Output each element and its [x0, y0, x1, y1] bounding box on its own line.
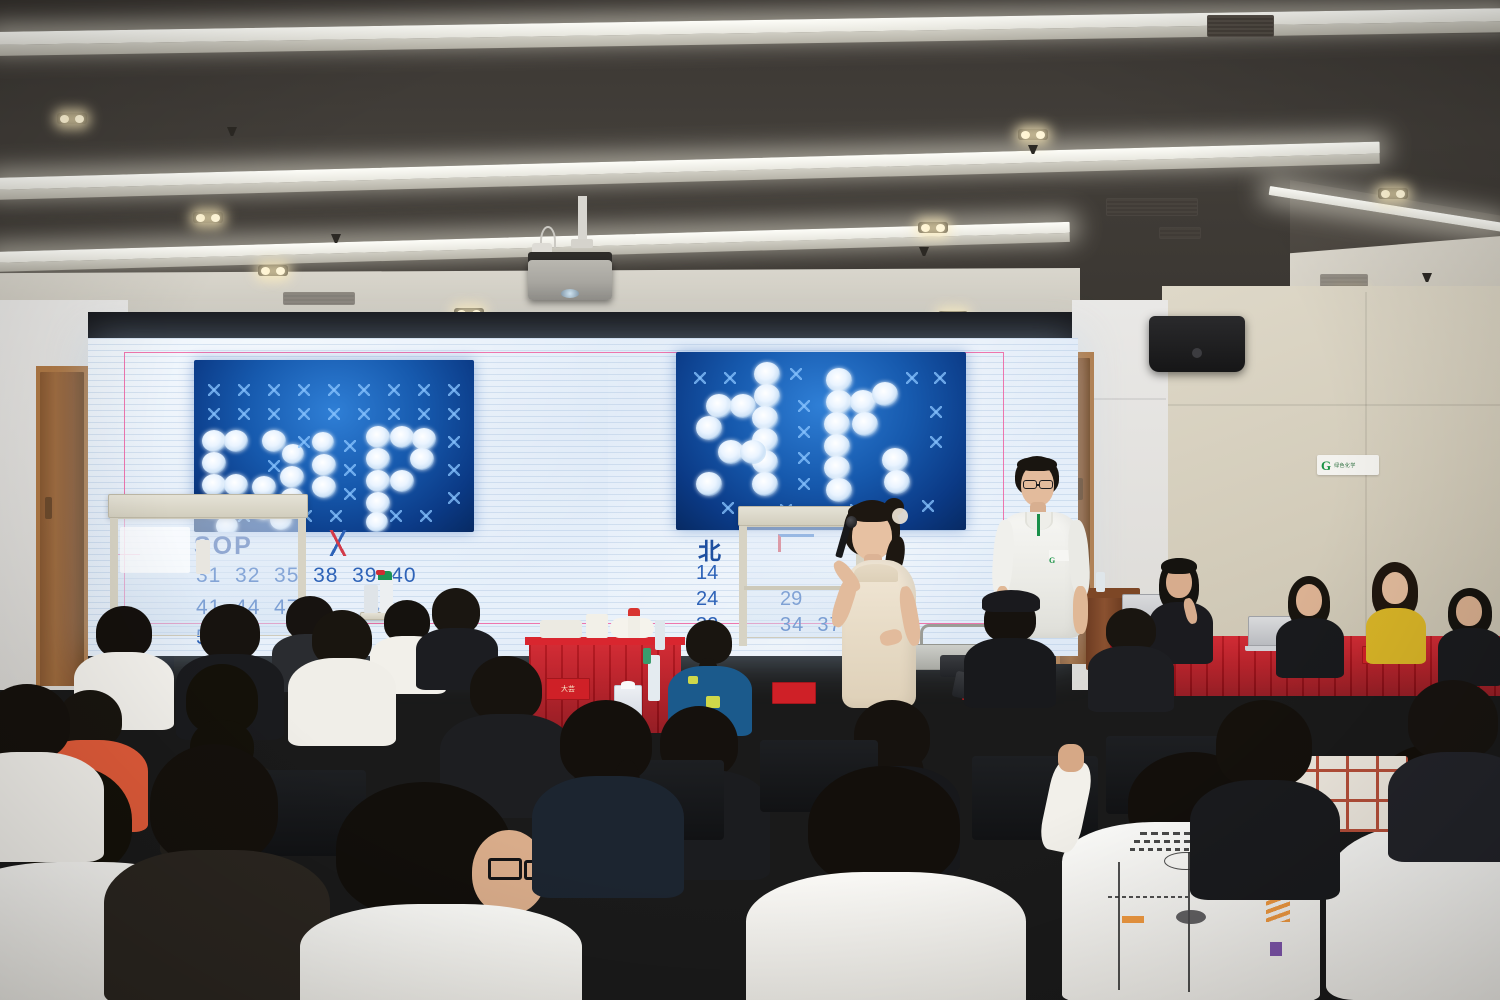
cap: [982, 590, 1040, 612]
wall-logo-sign: G 绿色化学: [1317, 455, 1379, 475]
wall-speaker: [1149, 316, 1245, 372]
projector-arm: [571, 239, 593, 248]
table-item-box: [586, 614, 608, 638]
glasses: [1023, 480, 1037, 489]
torso: [1190, 780, 1340, 900]
projector-mount: [578, 196, 587, 242]
cart-shelf-item: [120, 527, 190, 573]
shirt-print-orange-mark: [1122, 916, 1144, 923]
air-vent: [1106, 198, 1198, 216]
hair-front: [1161, 558, 1197, 574]
recessed-downlight: [1018, 129, 1048, 140]
air-vent: [1159, 227, 1201, 239]
torso: [300, 904, 582, 1000]
recessed-downlight: [918, 222, 948, 233]
hair: [808, 766, 960, 886]
glasses-bridge: [1037, 484, 1040, 486]
placard-text: 大芸: [561, 684, 575, 694]
spray-bottle-nozzle: [376, 570, 385, 575]
wall-dark-above-screen: [88, 312, 1078, 340]
shirt-print-diagram-line: [1108, 896, 1188, 898]
forearm-right: [1073, 586, 1088, 634]
dress-collar: [854, 564, 898, 582]
logo-mark: G: [1321, 459, 1331, 472]
wall-seam: [1164, 404, 1500, 406]
name-placard: [772, 682, 816, 704]
hair: [150, 744, 278, 864]
hair: [1408, 680, 1498, 760]
hair: [0, 684, 70, 760]
hair-accessory: [892, 508, 908, 524]
recessed-downlight: [258, 265, 288, 276]
microplate-photo-right: [676, 352, 966, 530]
microphone-head: [846, 516, 857, 528]
conference-room-scene: G 绿色化学: [0, 0, 1500, 1000]
torso: [104, 850, 330, 1000]
polo-placket-stripe: [1037, 514, 1040, 536]
hair: [200, 604, 260, 660]
wooden-door[interactable]: [40, 372, 84, 686]
torso: [746, 872, 1026, 1000]
torso: [1088, 646, 1174, 712]
torso: [964, 638, 1056, 708]
shirt-print-purple-mark: [1270, 942, 1282, 956]
hand: [1058, 744, 1084, 772]
torso: [1276, 618, 1344, 678]
slide-heading-right: 北: [698, 532, 721, 566]
hair-fringe: [1017, 457, 1057, 471]
recessed-downlight: [193, 212, 223, 223]
recessed-downlight: [57, 113, 87, 124]
glasses: [1039, 480, 1053, 489]
glasses[interactable]: [488, 858, 522, 880]
cart-bottle-item: [196, 540, 210, 574]
head: [1382, 572, 1408, 604]
slide-triangle-mark: [324, 530, 352, 556]
air-vent: [1207, 15, 1274, 37]
head: [1456, 596, 1482, 626]
shirt-print: [688, 676, 698, 684]
logo-sign-text: 绿色化学: [1334, 462, 1356, 469]
torso: [532, 776, 684, 898]
red-cap-bottle: [628, 608, 640, 638]
projector-lens: [561, 289, 579, 298]
head: [1296, 584, 1322, 616]
shirt-print-ellipse: [1176, 910, 1206, 924]
door-handle[interactable]: [45, 497, 52, 519]
recessed-downlight: [1378, 188, 1408, 199]
name-placard: 大芸: [546, 678, 590, 700]
torso: [0, 752, 104, 862]
hair: [470, 656, 542, 722]
slide-col-a-2: 24: [696, 588, 718, 611]
air-vent: [283, 292, 355, 305]
torso: [1388, 752, 1500, 862]
lab-bottle: [364, 585, 378, 613]
bottle-green-cap: [643, 648, 651, 664]
equipment-cart-left: [108, 494, 308, 518]
bottle-tall: [655, 620, 665, 650]
polo-chest-logo: G: [1049, 550, 1069, 561]
hair: [1216, 700, 1312, 788]
lectern-water-bottle: [1096, 572, 1105, 592]
plate-well-grid-right: [676, 352, 966, 530]
torso: [288, 658, 396, 746]
torso: [1366, 608, 1426, 664]
slide-col-a-1: 14: [696, 562, 718, 585]
shirt-print-diagram-line: [1118, 862, 1120, 990]
hair: [96, 606, 152, 658]
torso: [1438, 628, 1500, 686]
table-item-tray: [540, 620, 582, 638]
